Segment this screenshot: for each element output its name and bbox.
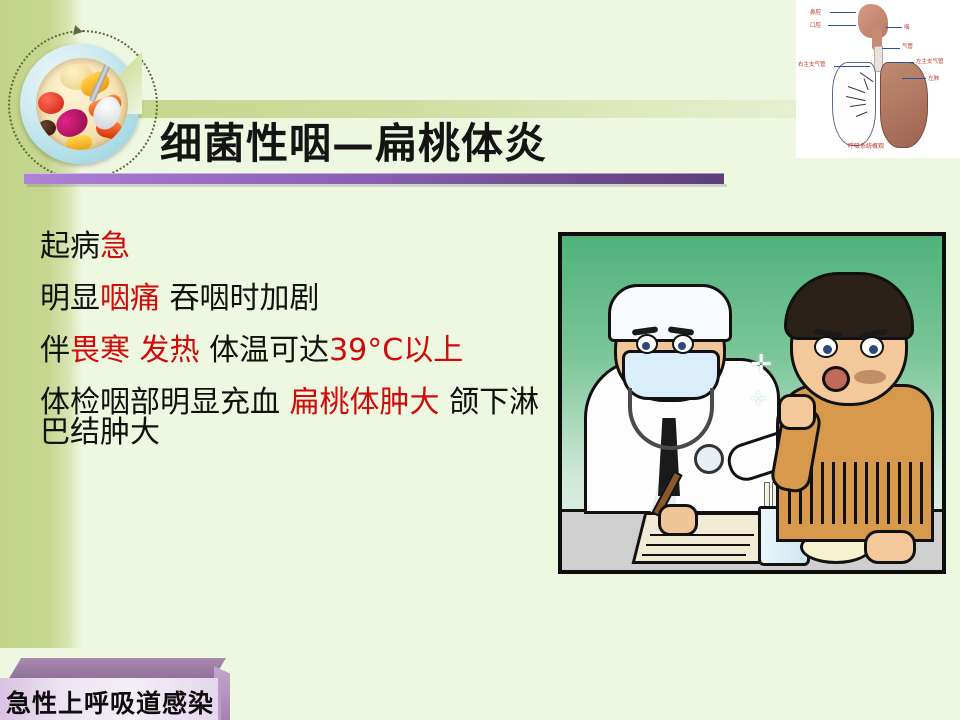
footer-plaque: 急性上呼吸道感染	[0, 658, 232, 720]
chart-writing-line	[646, 544, 750, 546]
bronchial-tree	[844, 72, 878, 128]
anatomy-caption: 呼吸系统概观	[848, 141, 884, 150]
bullet-line-1: 起病急	[40, 232, 540, 262]
pill-capsule	[65, 134, 93, 150]
patient-pupil-right	[869, 345, 878, 354]
bullet-1-highlight: 急	[100, 229, 130, 264]
bullet-3-text-b: 体温可达	[200, 333, 330, 368]
bullet-3-highlight-b: 以上	[403, 333, 463, 368]
bullet-2-text-a: 明显	[40, 281, 100, 316]
title-divider-shadow	[27, 184, 727, 187]
leader-line	[828, 25, 856, 26]
patient-hand-on-desk	[864, 530, 916, 564]
left-lung-shape	[880, 62, 928, 148]
doctor-pupil-left	[642, 342, 650, 350]
bullet-4-highlight-a: 扁桃体肿	[290, 385, 410, 420]
anatomy-label-oral-cavity: 口腔	[810, 21, 821, 29]
title-divider-bar	[24, 173, 724, 184]
respiratory-system-diagram: 鼻腔 口腔 咽 气管 右主支气管 左主支气管 左肺 呼吸系统概观	[796, 0, 960, 158]
anatomy-label-pharynx: 咽	[904, 23, 910, 31]
bullet-3-text-a: 伴	[40, 333, 70, 368]
bullet-4-highlight-b: 大	[410, 385, 440, 420]
doctor-patient-consultation-illustration: ✛ ✛	[558, 232, 946, 574]
pill-capsule	[38, 120, 56, 136]
plaque-top-bevel	[8, 658, 226, 680]
leader-line	[834, 66, 870, 67]
bullet-2-highlight: 咽痛	[100, 281, 160, 316]
leader-line	[886, 27, 902, 28]
bullet-3-temperature-unit: °C	[367, 333, 403, 368]
sparkle-icon: ✛	[750, 350, 772, 380]
bullet-3-temperature-value: 39	[329, 333, 367, 368]
patient-open-mouth	[822, 366, 850, 392]
bronchus-branch	[856, 112, 868, 117]
patient-hair	[784, 272, 914, 340]
body-content: 起病急 明显咽痛 吞咽时加剧 伴畏寒 发热 体温可达39°C以上 体检咽部明显充…	[40, 232, 540, 448]
leader-line	[882, 48, 900, 49]
bullet-1-text: 起病	[40, 229, 100, 264]
cartoon-background: ✛ ✛	[562, 236, 942, 570]
pill-capsule	[38, 92, 64, 114]
doctor-writing-hand	[658, 504, 698, 536]
bronchus-branch	[864, 78, 869, 90]
bronchus-branch	[846, 96, 866, 101]
patient-cheek	[854, 370, 886, 384]
anatomy-label-right-bronchus: 右主支气管	[798, 60, 826, 68]
doctor-cap	[608, 284, 732, 342]
sparkle-icon: ✛	[751, 389, 766, 410]
slide-canvas: 细菌性咽—扁桃体炎 起病急 明显咽痛 吞咽时加剧 伴畏寒 发热 体温可达39°C…	[0, 0, 960, 720]
doctor-pupil-right	[678, 342, 686, 350]
bullet-2-text-b: 吞咽时加剧	[160, 281, 320, 316]
bullet-line-3: 伴畏寒 发热 体温可达39°C以上	[40, 336, 540, 366]
pills-bowl-logo	[8, 30, 158, 180]
pill-bowl-icon	[36, 58, 128, 150]
anatomy-label-left-bronchus: 左主支气管	[916, 57, 944, 65]
page-title: 细菌性咽—扁桃体炎	[160, 110, 547, 171]
footer-label: 急性上呼吸道感染	[6, 684, 222, 720]
bullet-line-2: 明显咽痛 吞咽时加剧	[40, 284, 540, 314]
stethoscope-bell-icon	[694, 444, 724, 474]
anatomy-label-left-lung: 左肺	[928, 74, 939, 82]
bullet-line-4: 体检咽部明显充血 扁桃体肿大 颌下淋巴结肿大	[40, 388, 540, 448]
leader-line	[830, 12, 856, 13]
bullet-3-highlight-a: 畏寒 发热	[70, 333, 200, 368]
patient-hand-at-throat	[778, 394, 816, 430]
bronchus-branch	[860, 72, 874, 82]
chart-writing-line	[642, 554, 746, 556]
leader-line	[888, 62, 914, 63]
anatomy-label-trachea: 气管	[902, 42, 913, 50]
bronchus-branch	[848, 86, 865, 93]
anatomy-label-nasal-cavity: 鼻腔	[810, 8, 821, 16]
leader-line	[902, 78, 926, 79]
patient-pupil-left	[823, 345, 832, 354]
bronchus-branch	[850, 104, 866, 107]
